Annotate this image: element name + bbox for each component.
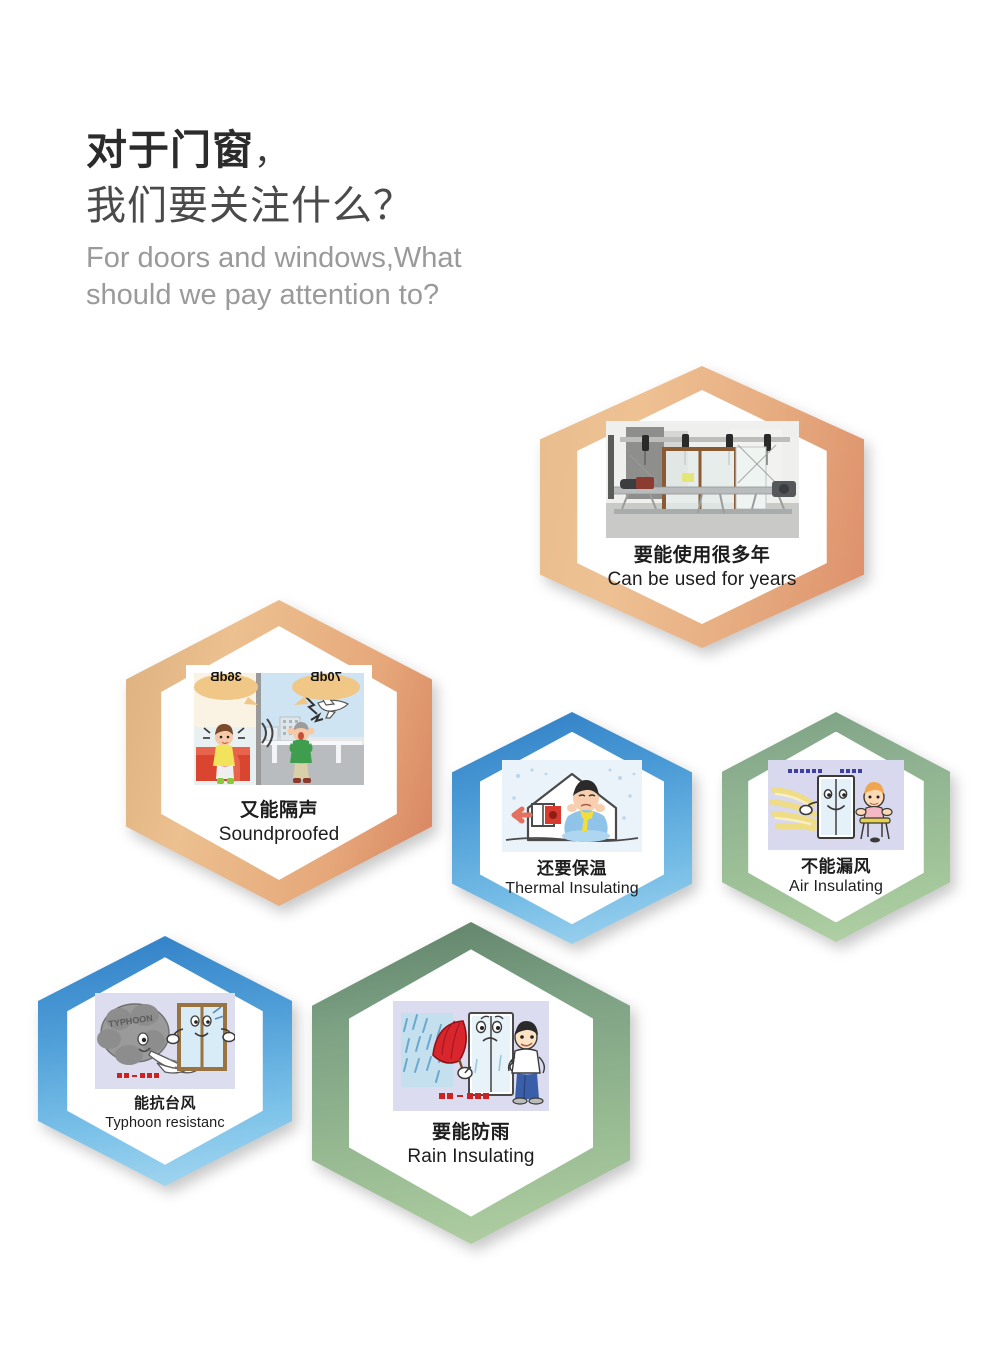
rain-insulation-cartoon-icon (393, 1001, 549, 1111)
page-title-comma: ， (254, 134, 289, 172)
hexagon-content-typhoon: TYPHOON (38, 936, 292, 1186)
hexagon-content-air: 不能漏风 Air Insulating (722, 712, 950, 942)
hexagon-label-en-rain: Rain Insulating (407, 1145, 534, 1170)
hexagon-content-rain: 要能防雨 Rain Insulating (312, 922, 630, 1244)
hexagon-card-air[interactable]: 不能漏风 Air Insulating (722, 712, 950, 942)
hexagon-labels-rain: 要能防雨 Rain Insulating (407, 1121, 534, 1169)
hexagon-card-typhoon[interactable]: TYPHOON (38, 936, 292, 1186)
hexagon-card-durability[interactable]: 要能使用很多年 Can be used for years (540, 366, 864, 648)
hexagon-card-rain[interactable]: 要能防雨 Rain Insulating (312, 922, 630, 1244)
hexagon-labels-thermal: 还要保温 Thermal Insulating (505, 858, 638, 900)
hexagon-label-en-thermal: Thermal Insulating (505, 879, 638, 900)
hexagon-label-en-typhoon: Typhoon resistanc (105, 1114, 224, 1133)
window-test-rig-photo-icon (606, 421, 799, 538)
soundproof-cartoon-icon: 36dB 70dB (186, 665, 372, 793)
soundproof-inside-db-label: 36dB (210, 669, 242, 684)
hexagon-label-en-durability: Can be used for years (607, 568, 796, 593)
page-title-cn-primary: 对于门窗， (86, 126, 646, 174)
hexagon-label-cn-durability: 要能使用很多年 (607, 544, 796, 568)
typhoon-cartoon-icon: TYPHOON (95, 993, 235, 1089)
page-title-cn-secondary: 我们要关注什么？ (86, 180, 646, 232)
hexagon-labels-soundproofed: 又能隔声 Soundproofed (219, 799, 340, 847)
page-header: 对于门窗， 我们要关注什么？ For doors and windows,Wha… (86, 126, 646, 315)
hexagon-card-thermal[interactable]: 还要保温 Thermal Insulating (452, 712, 692, 944)
hexagon-labels-durability: 要能使用很多年 Can be used for years (607, 544, 796, 592)
page-subtitle-line1: For doors and windows,What (86, 242, 462, 274)
hexagon-label-cn-rain: 要能防雨 (407, 1121, 534, 1145)
thermal-insulation-cartoon-icon (502, 760, 642, 852)
hexagon-content-soundproofed: 36dB 70dB 又能隔声 Soundproofed (126, 600, 432, 906)
hexagon-label-en-air: Air Insulating (789, 877, 883, 898)
hexagon-label-en-soundproofed: Soundproofed (219, 823, 340, 848)
page-title-cn-primary-text: 对于门窗 (86, 127, 254, 173)
hexagon-label-cn-air: 不能漏风 (789, 856, 883, 877)
page-subtitle: For doors and windows,Whatshould we pay … (86, 240, 646, 314)
hexagon-content-thermal: 还要保温 Thermal Insulating (452, 712, 692, 944)
hexagon-labels-air: 不能漏风 Air Insulating (789, 856, 883, 898)
soundproof-outside-db-label: 70dB (310, 669, 342, 684)
hexagon-label-cn-thermal: 还要保温 (505, 858, 638, 879)
hexagon-content-durability: 要能使用很多年 Can be used for years (540, 366, 864, 648)
page-subtitle-line2: should we pay attention to? (86, 279, 439, 311)
air-insulation-cartoon-icon (768, 760, 904, 850)
hexagon-label-cn-soundproofed: 又能隔声 (219, 799, 340, 823)
hexagon-card-soundproofed[interactable]: 36dB 70dB 又能隔声 Soundproofed (126, 600, 432, 906)
hexagon-labels-typhoon: 能抗台风 Typhoon resistanc (105, 1095, 224, 1133)
hexagon-label-cn-typhoon: 能抗台风 (105, 1095, 224, 1114)
